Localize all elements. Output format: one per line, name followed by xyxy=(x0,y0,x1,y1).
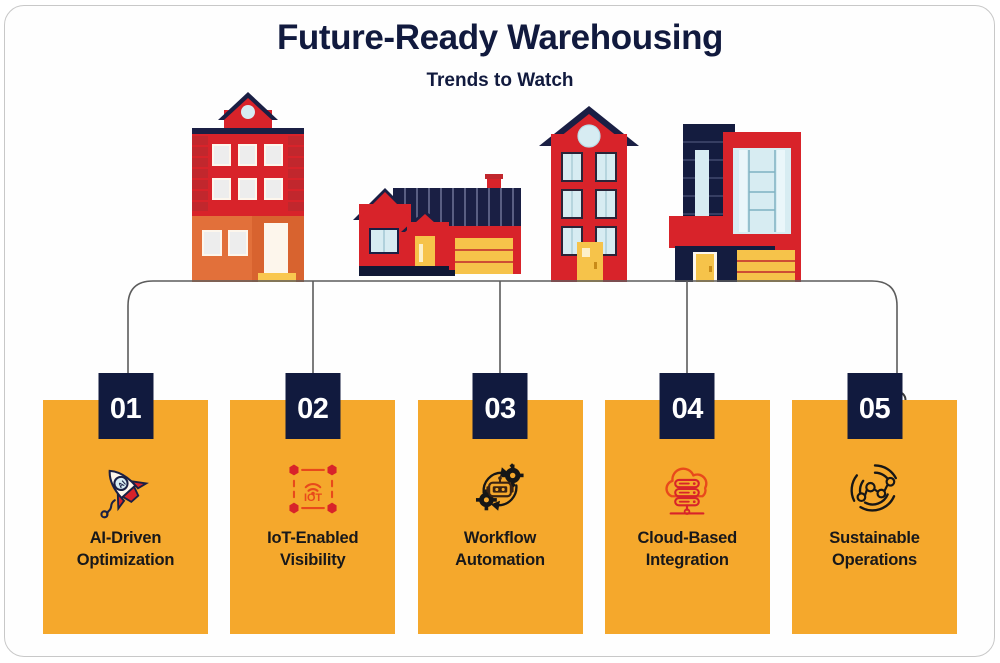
trend-label-04-line1: Cloud-Based xyxy=(637,529,737,547)
trend-badge-02: 02 xyxy=(285,373,340,439)
trend-label-01-line1: AI-Driven xyxy=(90,529,162,547)
brick-apartment-building-icon xyxy=(186,90,310,282)
trend-number-05: 05 xyxy=(859,393,890,426)
trend-badge-03: 03 xyxy=(473,373,528,439)
trend-label-04: Cloud-Based Integration xyxy=(605,528,770,572)
trend-card-04[interactable]: 04 xyxy=(605,400,770,634)
trend-card-05[interactable]: 05 xyxy=(792,400,957,634)
trend-label-02-line2: Visibility xyxy=(280,551,346,569)
infographic-page: Future-Ready Warehousing Trends to Watch xyxy=(0,0,1000,663)
page-title: Future-Ready Warehousing xyxy=(0,18,1000,58)
iot-icon-text: IOT xyxy=(304,492,322,504)
tall-narrow-townhouse-icon xyxy=(533,104,645,282)
trend-card-01[interactable]: 01 AI AI-Driven O xyxy=(43,400,208,634)
trend-label-04-line2: Integration xyxy=(646,551,729,569)
header: Future-Ready Warehousing Trends to Watch xyxy=(0,18,1000,92)
trend-card-03[interactable]: 03 xyxy=(418,400,583,634)
rocket-ai-icon: AI xyxy=(92,458,160,520)
trend-label-05: Sustainable Operations xyxy=(792,528,957,572)
trend-label-03: Workflow Automation xyxy=(418,528,583,572)
trend-cards-row: 01 AI AI-Driven O xyxy=(43,400,957,634)
trend-number-03: 03 xyxy=(484,393,515,426)
warehouse-buildings-illustration xyxy=(0,90,1000,282)
modern-office-building-icon xyxy=(665,110,811,282)
trend-label-01-line2: Optimization xyxy=(77,551,175,569)
trend-label-02: IoT-Enabled Visibility xyxy=(230,528,395,572)
trend-label-01: AI-Driven Optimization xyxy=(43,528,208,572)
trend-badge-05: 05 xyxy=(847,373,902,439)
trend-label-03-line2: Automation xyxy=(455,551,545,569)
trend-label-05-line1: Sustainable xyxy=(829,529,919,547)
trend-number-04: 04 xyxy=(672,393,703,426)
trend-label-02-line1: IoT-Enabled xyxy=(267,529,358,547)
trend-badge-04: 04 xyxy=(660,373,715,439)
page-subtitle: Trends to Watch xyxy=(0,70,1000,92)
trend-label-03-line1: Workflow xyxy=(464,529,536,547)
cloud-server-icon xyxy=(653,458,721,520)
circular-network-donut-icon xyxy=(841,458,909,520)
trend-label-05-line2: Operations xyxy=(832,551,917,569)
trend-badge-01: 01 xyxy=(98,373,153,439)
trend-number-02: 02 xyxy=(297,393,328,426)
trend-number-01: 01 xyxy=(110,393,141,426)
iot-network-icon: IOT xyxy=(279,458,347,520)
robot-gears-automation-icon xyxy=(466,458,534,520)
trend-card-02[interactable]: 02 xyxy=(230,400,395,634)
